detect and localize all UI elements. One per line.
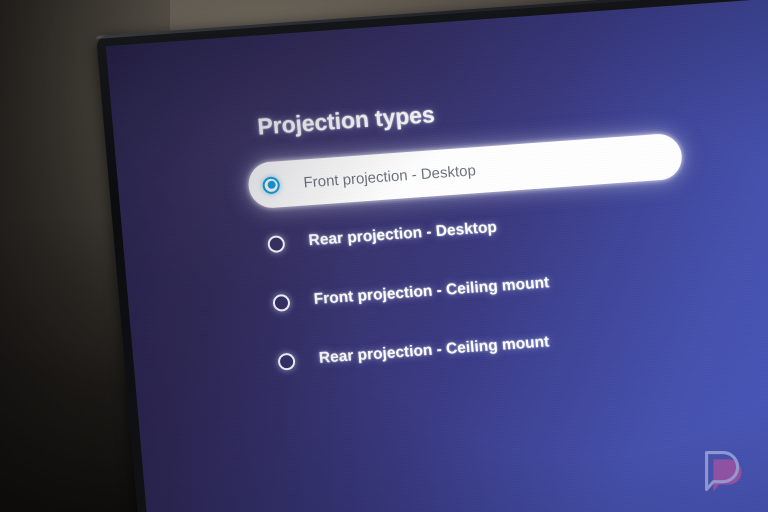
option-label: Front projection - Ceiling mount — [313, 274, 550, 309]
radio-selected-icon[interactable] — [262, 176, 280, 194]
photograph-of-display: Projection types Front projection - Desk… — [0, 0, 768, 512]
page-title: Projection types — [256, 75, 768, 141]
radio-unselected-icon[interactable] — [267, 235, 285, 253]
projection-settings-panel: Projection types Front projection - Desk… — [242, 75, 768, 399]
option-label: Rear projection - Desktop — [308, 219, 498, 250]
television-display: Projection types Front projection - Desk… — [96, 0, 768, 512]
display-screen: Projection types Front projection - Desk… — [106, 0, 768, 512]
option-label: Rear projection - Ceiling mount — [318, 333, 550, 367]
droid-life-d-logo-watermark — [694, 440, 756, 502]
option-label: Front projection - Desktop — [303, 162, 477, 191]
radio-unselected-icon[interactable] — [277, 352, 295, 370]
radio-unselected-icon[interactable] — [272, 293, 290, 311]
